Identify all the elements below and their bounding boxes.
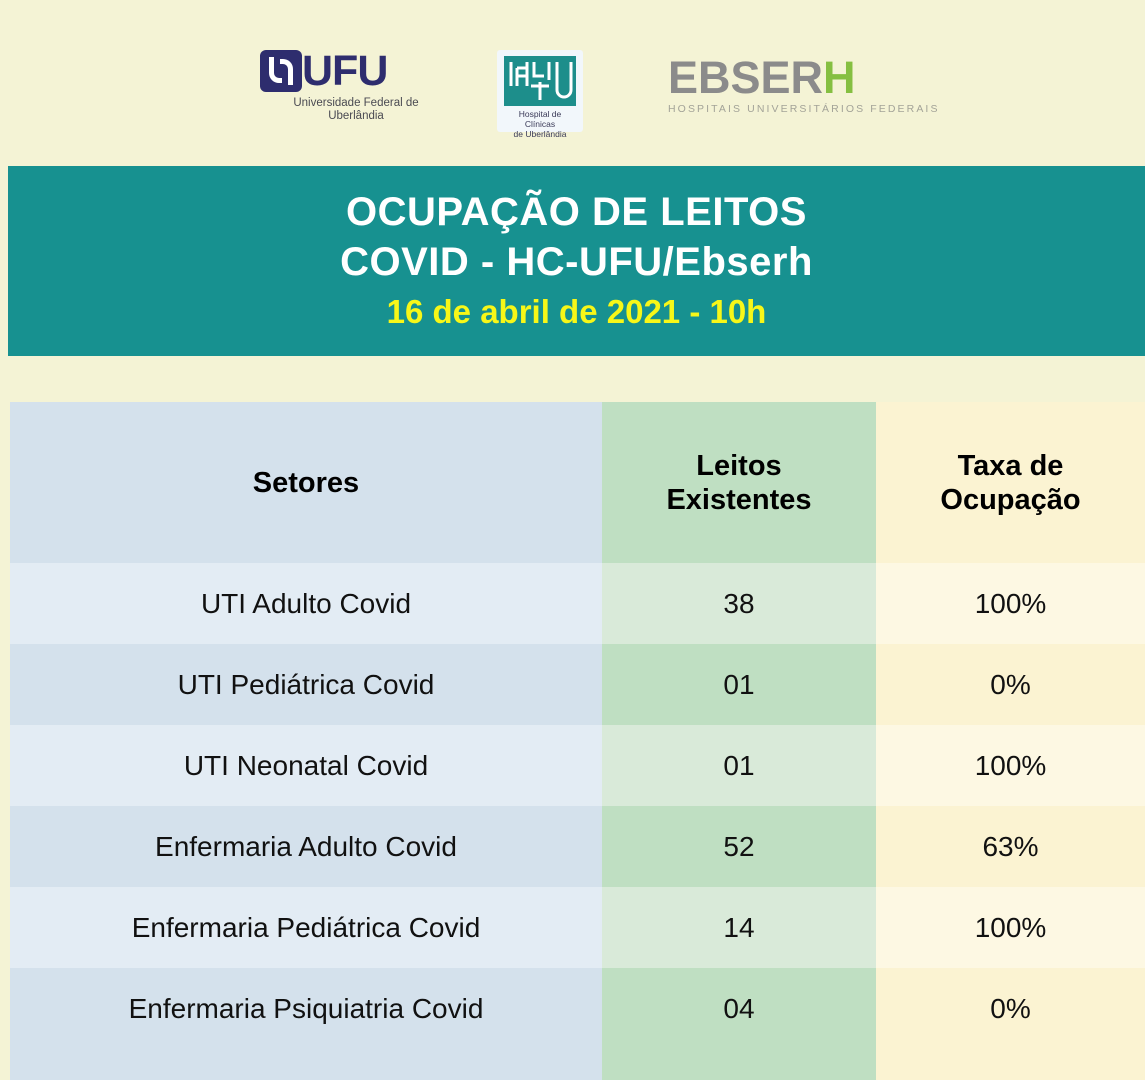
hc-ufu-logo: Hospital de Clínicas de Uberlândia bbox=[497, 50, 583, 132]
ufu-logo: UFU Universidade Federal de Uberlândia bbox=[258, 48, 468, 120]
table-row: Enfermaria Pediátrica Covid 14 100% bbox=[10, 887, 1145, 968]
fill-leitos bbox=[602, 1049, 876, 1080]
cell-setor: Enfermaria Pediátrica Covid bbox=[10, 887, 602, 968]
ufu-subtitle: Universidade Federal de Uberlândia bbox=[258, 97, 454, 123]
column-header-taxa-ocupacao: Taxa de Ocupação bbox=[876, 402, 1145, 563]
infographic-page: UFU Universidade Federal de Uberlândia bbox=[0, 0, 1145, 1080]
title-banner: OCUPAÇÃO DE LEITOS COVID - HC-UFU/Ebserh… bbox=[8, 166, 1145, 356]
cell-leitos: 14 bbox=[602, 887, 876, 968]
ufu-wordmark-row: UFU bbox=[258, 48, 468, 94]
banner-title-line1: OCUPAÇÃO DE LEITOS bbox=[346, 187, 807, 237]
ufu-subtitle-line2: Uberlândia bbox=[258, 110, 454, 123]
ebserh-logo: EBSERH HOSPITAIS UNIVERSITÁRIOS FEDERAIS bbox=[668, 55, 898, 121]
ebserh-subtitle: HOSPITAIS UNIVERSITÁRIOS FEDERAIS bbox=[668, 103, 898, 116]
cell-leitos: 52 bbox=[602, 806, 876, 887]
column-header-taxa-line1: Taxa de bbox=[940, 449, 1080, 483]
column-header-leitos-line1: Leitos bbox=[666, 449, 811, 483]
fill-setor bbox=[10, 1049, 602, 1080]
cell-setor: Enfermaria Adulto Covid bbox=[10, 806, 602, 887]
cell-taxa: 63% bbox=[876, 806, 1145, 887]
column-header-setores: Setores bbox=[10, 402, 602, 563]
table-header-row: Setores Leitos Existentes Taxa de Ocupaç… bbox=[10, 402, 1145, 563]
hc-subtitle-line1: Hospital de Clínicas bbox=[504, 109, 576, 129]
hc-emblem-icon bbox=[504, 56, 576, 106]
cell-taxa: 100% bbox=[876, 563, 1145, 644]
cell-taxa: 100% bbox=[876, 725, 1145, 806]
cell-taxa: 0% bbox=[876, 644, 1145, 725]
cell-taxa: 100% bbox=[876, 887, 1145, 968]
fill-taxa bbox=[876, 1049, 1145, 1080]
table-row: UTI Neonatal Covid 01 100% bbox=[10, 725, 1145, 806]
ebserh-wordmark-gray: EBSER bbox=[668, 52, 823, 103]
column-header-leitos-existentes: Leitos Existentes bbox=[602, 402, 876, 563]
table-row: Enfermaria Psiquiatria Covid 04 0% bbox=[10, 968, 1145, 1049]
cell-setor: UTI Neonatal Covid bbox=[10, 725, 602, 806]
column-header-leitos-line2: Existentes bbox=[666, 483, 811, 517]
hc-subtitle: Hospital de Clínicas de Uberlândia bbox=[504, 109, 576, 139]
logo-bar: UFU Universidade Federal de Uberlândia bbox=[0, 0, 1145, 166]
table-row: Enfermaria Adulto Covid 52 63% bbox=[10, 806, 1145, 887]
cell-leitos: 01 bbox=[602, 725, 876, 806]
cell-leitos: 04 bbox=[602, 968, 876, 1049]
banner-date: 16 de abril de 2021 - 10h bbox=[387, 289, 767, 335]
banner-title-line2: COVID - HC-UFU/Ebserh bbox=[340, 237, 813, 287]
ufu-emblem-icon bbox=[258, 48, 304, 94]
cell-taxa: 0% bbox=[876, 968, 1145, 1049]
table-body: UTI Adulto Covid 38 100% UTI Pediátrica … bbox=[10, 563, 1145, 1049]
cell-setor: Enfermaria Psiquiatria Covid bbox=[10, 968, 602, 1049]
column-header-taxa-line2: Ocupação bbox=[940, 483, 1080, 517]
occupancy-table: Setores Leitos Existentes Taxa de Ocupaç… bbox=[10, 402, 1145, 1080]
cell-leitos: 01 bbox=[602, 644, 876, 725]
table-row: UTI Adulto Covid 38 100% bbox=[10, 563, 1145, 644]
table-row: UTI Pediátrica Covid 01 0% bbox=[10, 644, 1145, 725]
cell-setor: UTI Adulto Covid bbox=[10, 563, 602, 644]
hc-subtitle-line2: de Uberlândia bbox=[504, 129, 576, 139]
table-bottom-fill bbox=[10, 1049, 1145, 1080]
cell-setor: UTI Pediátrica Covid bbox=[10, 644, 602, 725]
ufu-wordmark: UFU bbox=[302, 48, 387, 94]
ebserh-wordmark: EBSERH bbox=[668, 55, 898, 101]
ufu-subtitle-line1: Universidade Federal de bbox=[258, 97, 454, 110]
ebserh-wordmark-green-h: H bbox=[823, 52, 856, 103]
cell-leitos: 38 bbox=[602, 563, 876, 644]
